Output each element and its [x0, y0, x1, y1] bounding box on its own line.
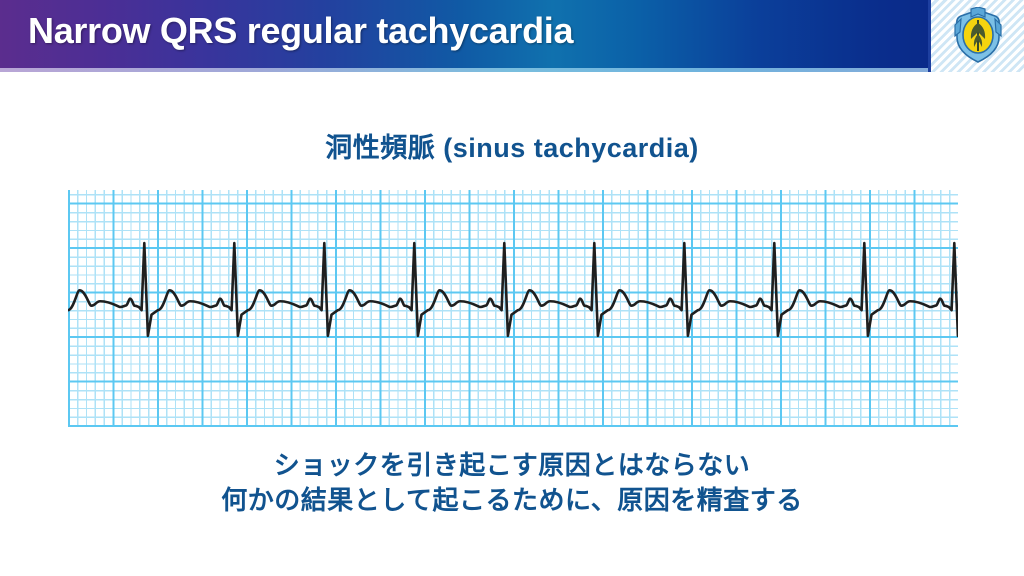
ecg-subtitle: 洞性頻脈 (sinus tachycardia) [0, 126, 1024, 165]
ecg-rhythm-strip [68, 190, 958, 427]
ecg-waveform-trace [68, 190, 958, 427]
page-title: Narrow QRS regular tachycardia [28, 10, 573, 52]
caption-line-1: ショックを引き起こす原因とはならない [0, 448, 1024, 483]
logo-block [928, 0, 1024, 72]
shield-emblem-logo [949, 7, 1007, 65]
caption-line-2: 何かの結果として起こるために、原因を精査する [0, 483, 1024, 518]
header-underline [0, 68, 1024, 72]
slide-caption: ショックを引き起こす原因とはならない 何かの結果として起こるために、原因を精査す… [0, 448, 1024, 517]
